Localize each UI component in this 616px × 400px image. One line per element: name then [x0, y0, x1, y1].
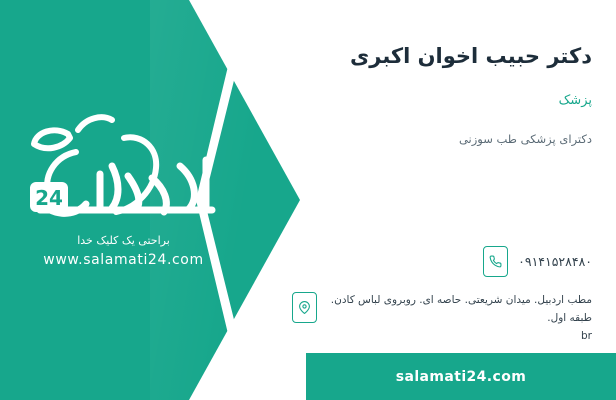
- address-line-1: مطب اردبیل. میدان شریعتی. حاصه ای. روبرو…: [331, 294, 592, 324]
- address-line-2: br: [327, 328, 592, 346]
- location-pin-icon: [292, 292, 317, 323]
- phone-number: ۰۹۱۴۱۵۲۸۴۸۰: [518, 254, 592, 269]
- address-row: مطب اردبیل. میدان شریعتی. حاصه ای. روبرو…: [292, 292, 592, 346]
- business-card: 24 براحتی یک کلیک خدا www.salamati24.com…: [0, 0, 616, 400]
- phone-row: ۰۹۱۴۱۵۲۸۴۸۰: [483, 246, 592, 277]
- footer-site-url: salamati24.com: [396, 369, 526, 385]
- phone-icon: [483, 246, 508, 277]
- doctor-role: پزشک: [559, 93, 592, 108]
- doctor-name: دکتر حبیب اخوان اکبری: [350, 44, 592, 68]
- brand-logo: 24 براحتی یک کلیک خدا www.salamati24.com: [16, 104, 231, 274]
- logo-badge-24: 24: [35, 186, 63, 210]
- logo-tagline: براحتی یک کلیک خدا: [16, 234, 231, 247]
- footer-bar: salamati24.com: [306, 353, 616, 400]
- doctor-degree: دکترای پزشکی طب سوزنی: [459, 132, 592, 146]
- address-text: مطب اردبیل. میدان شریعتی. حاصه ای. روبرو…: [327, 292, 592, 346]
- logo-url: www.salamati24.com: [16, 252, 231, 268]
